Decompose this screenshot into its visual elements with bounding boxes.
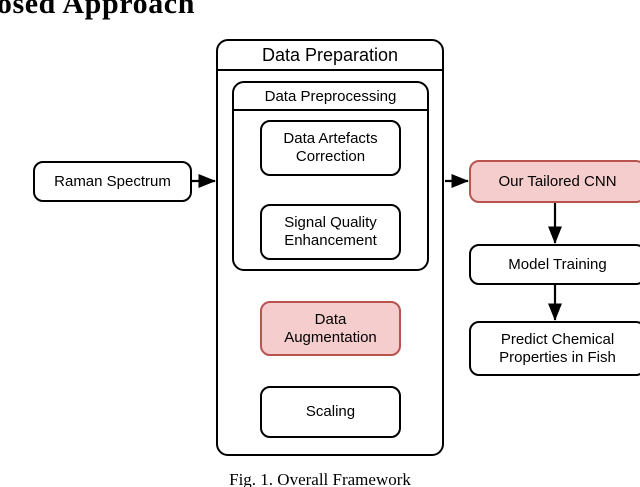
node-signal-quality-enhancement-label: Signal Quality Enhancement [284, 214, 377, 249]
node-scaling-label: Scaling [306, 403, 355, 421]
node-data-artefacts-correction[interactable]: Data Artefacts Correction [260, 120, 401, 176]
figure-caption: Fig. 1. Overall Framework [0, 470, 640, 487]
node-raman-spectrum[interactable]: Raman Spectrum [33, 161, 192, 202]
node-model-training[interactable]: Model Training [469, 244, 640, 285]
page-title: oposed Approach [0, 0, 195, 21]
node-scaling[interactable]: Scaling [260, 386, 401, 438]
node-data-augmentation-label: Data Augmentation [284, 311, 377, 346]
node-our-tailored-cnn-label: Our Tailored CNN [498, 173, 616, 191]
node-data-augmentation[interactable]: Data Augmentation [260, 301, 401, 356]
node-signal-quality-enhancement[interactable]: Signal Quality Enhancement [260, 204, 401, 260]
node-model-training-label: Model Training [508, 256, 606, 274]
node-predict-chemical-properties[interactable]: Predict Chemical Properties in Fish [469, 321, 640, 376]
container-data-preprocessing-title: Data Preprocessing [234, 83, 427, 111]
node-predict-chemical-properties-label: Predict Chemical Properties in Fish [499, 331, 616, 366]
node-our-tailored-cnn[interactable]: Our Tailored CNN [469, 160, 640, 203]
node-raman-spectrum-label: Raman Spectrum [54, 173, 171, 191]
figure-page: oposed Approach Raman Spectrum Data Prep… [0, 0, 640, 487]
node-data-artefacts-correction-label: Data Artefacts Correction [283, 130, 377, 165]
container-data-preparation-title: Data Preparation [218, 41, 442, 71]
